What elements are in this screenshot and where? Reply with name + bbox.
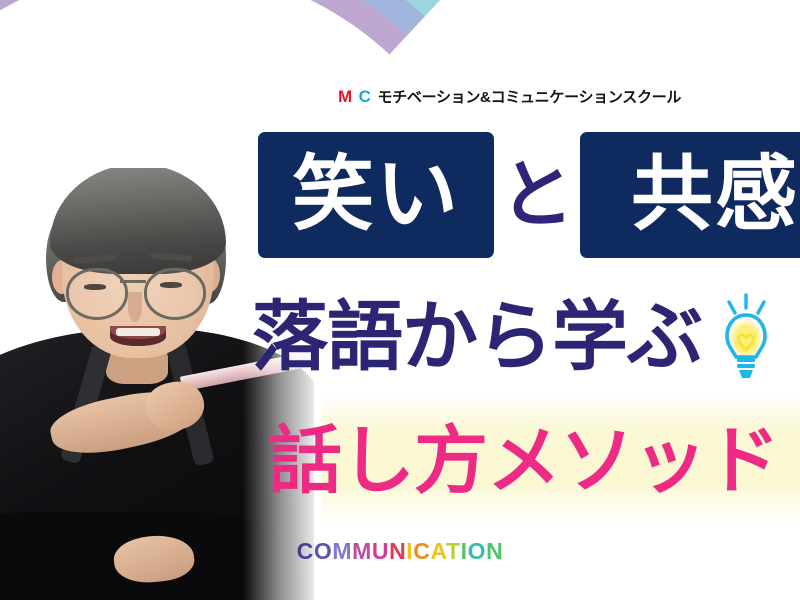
wordmark-letter-10: I [461,538,468,564]
lightbulb-base-ring-1 [737,358,755,362]
brand-school-name: モチベーション&コミュニケーションスクール [377,86,681,107]
wordmark-letter-7: C [413,538,430,564]
headline-rakugo-text: 落語から学ぶ [252,300,702,376]
speaker-teeth [116,328,160,336]
brand-letter-m: M [338,87,353,107]
headline-line-3: 話し方メソッド [268,424,779,498]
wordmark-letter-4: U [372,538,389,564]
lightbulb-base-ring-2 [737,364,755,368]
wordmark-letter-0: C [297,538,314,564]
speaker-nose [128,292,142,322]
wordmark-letter-12: N [486,538,503,564]
speaker-mouth [110,326,166,346]
headline-box-warai: 笑い [258,132,494,258]
headline-conjunction-label: と [500,158,574,232]
communication-wordmark: COMMUNICATION [0,538,800,565]
wordmark-letter-9: T [446,538,461,564]
lightbulb-icon [706,288,778,388]
wordmark-letter-3: M [352,538,372,564]
headline-conjunction: と [494,132,580,258]
headline-box-warai-label: 笑い [292,154,460,236]
wordmark-letter-2: M [332,538,352,564]
lightbulb-ray-right [758,302,764,313]
brand-logo-line: M C モチベーション&コミュニケーションスクール [338,86,668,107]
wordmark-letter-5: N [389,538,406,564]
eyeglass-lens-right [144,268,206,320]
lightbulb-base-tip [739,370,753,378]
wordmark-letter-11: O [468,538,487,564]
headline-box-kyokan: 共感 [580,132,800,258]
headline-method-text: 話し方メソッド [268,424,779,498]
lightbulb-svg [706,288,778,388]
headline-line-2: 落語から学ぶ [252,288,778,388]
wordmark-letter-8: A [431,538,447,564]
eyeglass-lens-left [66,268,128,320]
poster-canvas: M C モチベーション&コミュニケーションスクール 笑い と 共感 落語から学ぶ [0,0,800,600]
brand-letter-c: C [359,87,372,107]
lightbulb-ray-left [729,302,735,313]
headline-box-kyokan-label: 共感 [631,154,799,236]
headline-line-1: 笑い と 共感 [258,132,800,258]
eyeglass-bridge [120,280,146,283]
wordmark-letter-1: O [314,538,333,564]
